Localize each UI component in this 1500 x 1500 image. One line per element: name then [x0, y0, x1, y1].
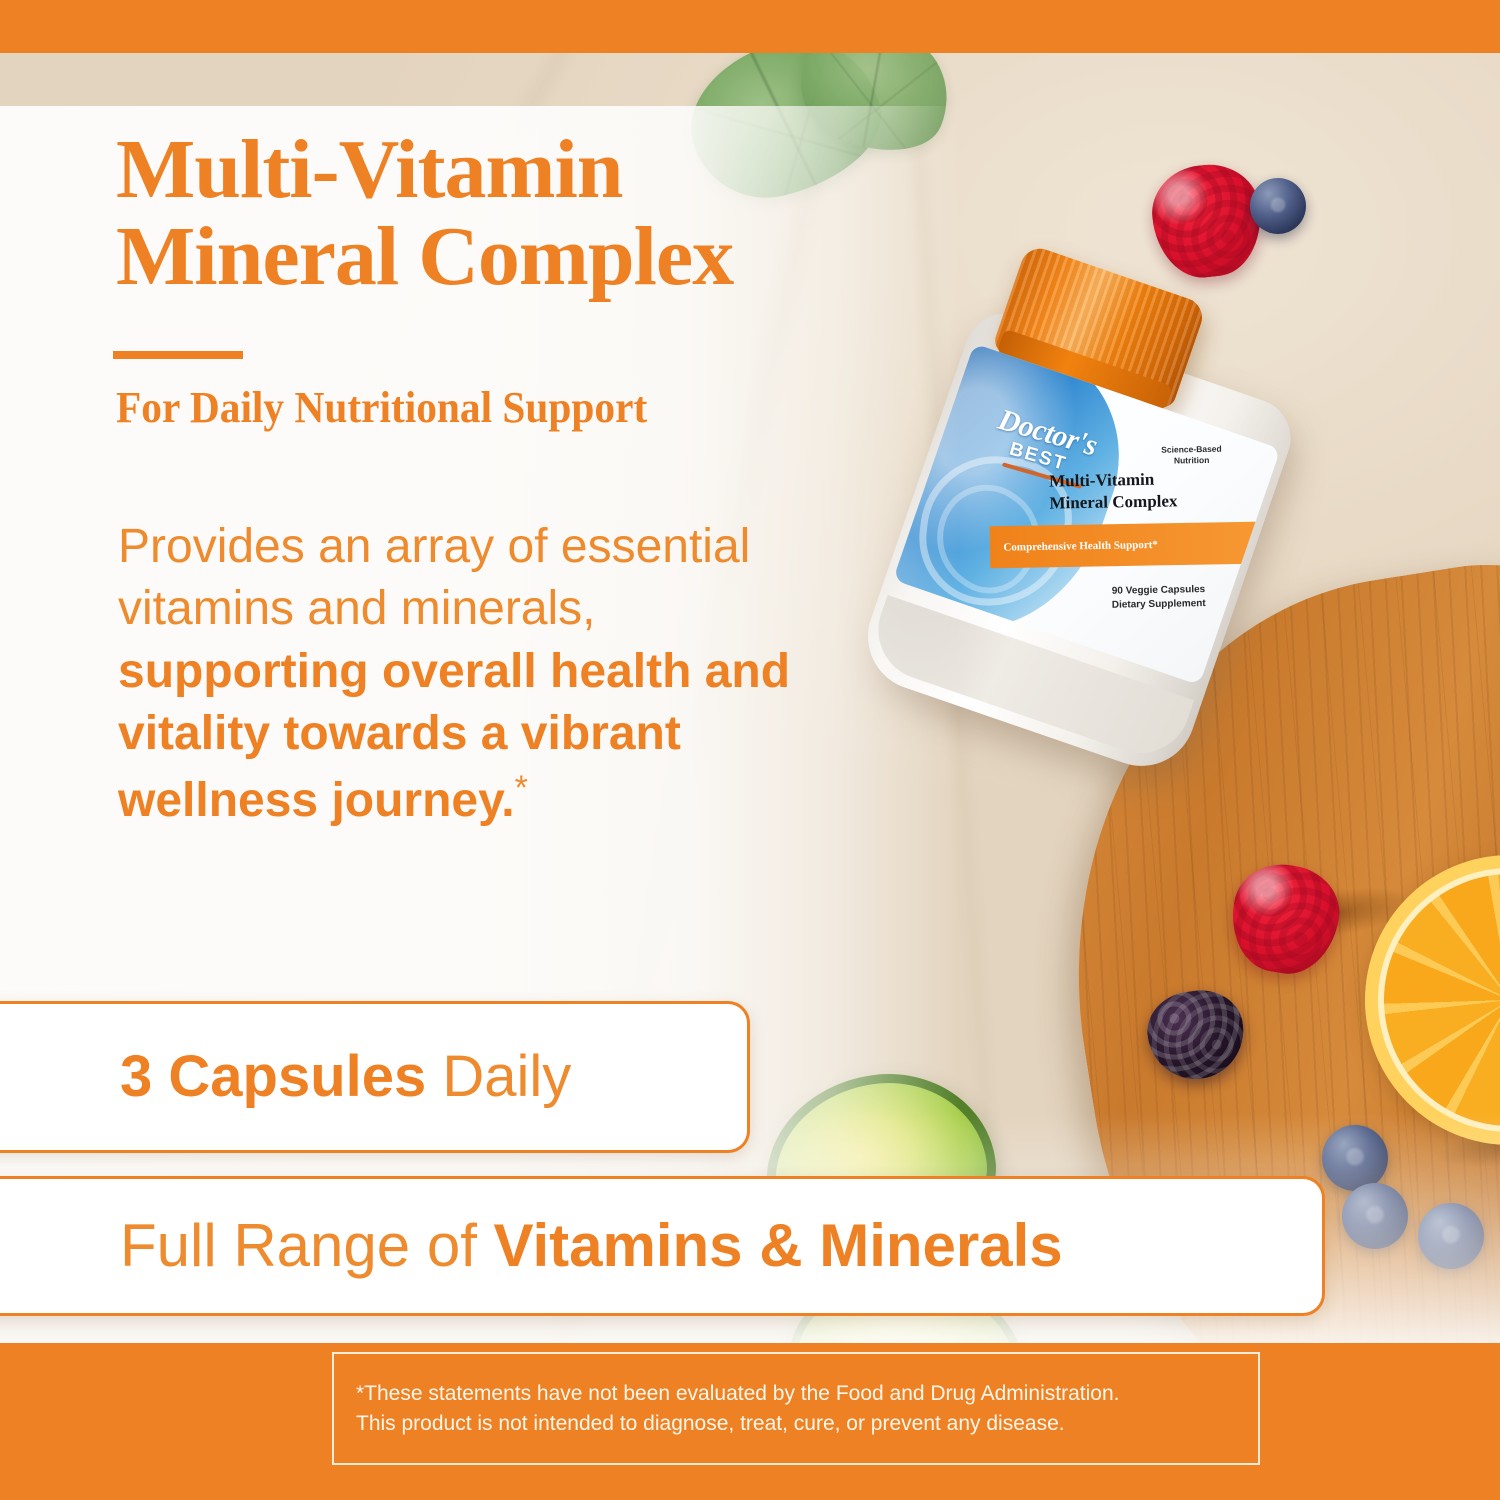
blueberry — [1322, 1125, 1388, 1191]
disclaimer-line-1: *These statements have not been evaluate… — [356, 1382, 1119, 1405]
bottle-count-line2: Dietary Supplement — [1112, 598, 1206, 611]
disclaimer-box: *These statements have not been evaluate… — [332, 1352, 1260, 1465]
disclaimer-text: *These statements have not been evaluate… — [356, 1379, 1119, 1439]
bottle-product-name-line2: Mineral Complex — [1049, 491, 1177, 512]
callout-dosage[interactable]: 3 Capsules Daily — [0, 1001, 750, 1153]
headline-line-2: Mineral Complex — [116, 210, 733, 303]
bottle-count: 90 Veggie Capsules Dietary Supplement — [1098, 583, 1218, 613]
callout-dosage-regular: Daily — [442, 1044, 571, 1109]
callout-range-regular: Full Range of — [120, 1212, 477, 1279]
bottle-tagline: Science-Based Nutrition — [1145, 443, 1237, 468]
top-orange-band — [0, 0, 1500, 53]
callout-dosage-text: 3 Capsules Daily — [120, 1048, 571, 1106]
blueberry — [1418, 1203, 1484, 1269]
bottle-product-name-line1: Multi-Vitamin — [1049, 470, 1154, 491]
bottle-tagline-line1: Science-Based — [1161, 444, 1222, 455]
callout-range[interactable]: Full Range of Vitamins & Minerals — [0, 1176, 1325, 1316]
callout-range-text: Full Range of Vitamins & Minerals — [120, 1216, 1063, 1276]
page-subtitle: For Daily Nutritional Support — [116, 384, 943, 432]
body-copy-bold: supporting overall health and vitality t… — [118, 645, 790, 827]
headline-line-1: Multi-Vitamin — [116, 123, 623, 216]
callout-dosage-bold: 3 Capsules — [120, 1044, 426, 1109]
body-copy-asterisk: * — [515, 769, 528, 807]
product-marketing-image: Doctor's BEST Science-Based Nutrition Mu… — [0, 0, 1500, 1500]
bottle-product-name: Multi-Vitamin Mineral Complex — [1049, 467, 1280, 515]
callout-range-bold: Vitamins & Minerals — [494, 1212, 1063, 1279]
disclaimer-line-2: This product is not intended to diagnose… — [356, 1412, 1065, 1435]
headline-rule — [113, 351, 243, 359]
body-copy-regular: Provides an array of essential vitamins … — [118, 520, 750, 635]
blueberry — [1342, 1183, 1408, 1249]
bottle-tagline-line2: Nutrition — [1174, 455, 1210, 466]
blueberry — [1250, 178, 1306, 234]
bottle-count-line1: 90 Veggie Capsules — [1112, 584, 1206, 597]
body-copy: Provides an array of essential vitamins … — [118, 516, 838, 832]
page-title: Multi-Vitamin Mineral Complex — [116, 126, 996, 301]
